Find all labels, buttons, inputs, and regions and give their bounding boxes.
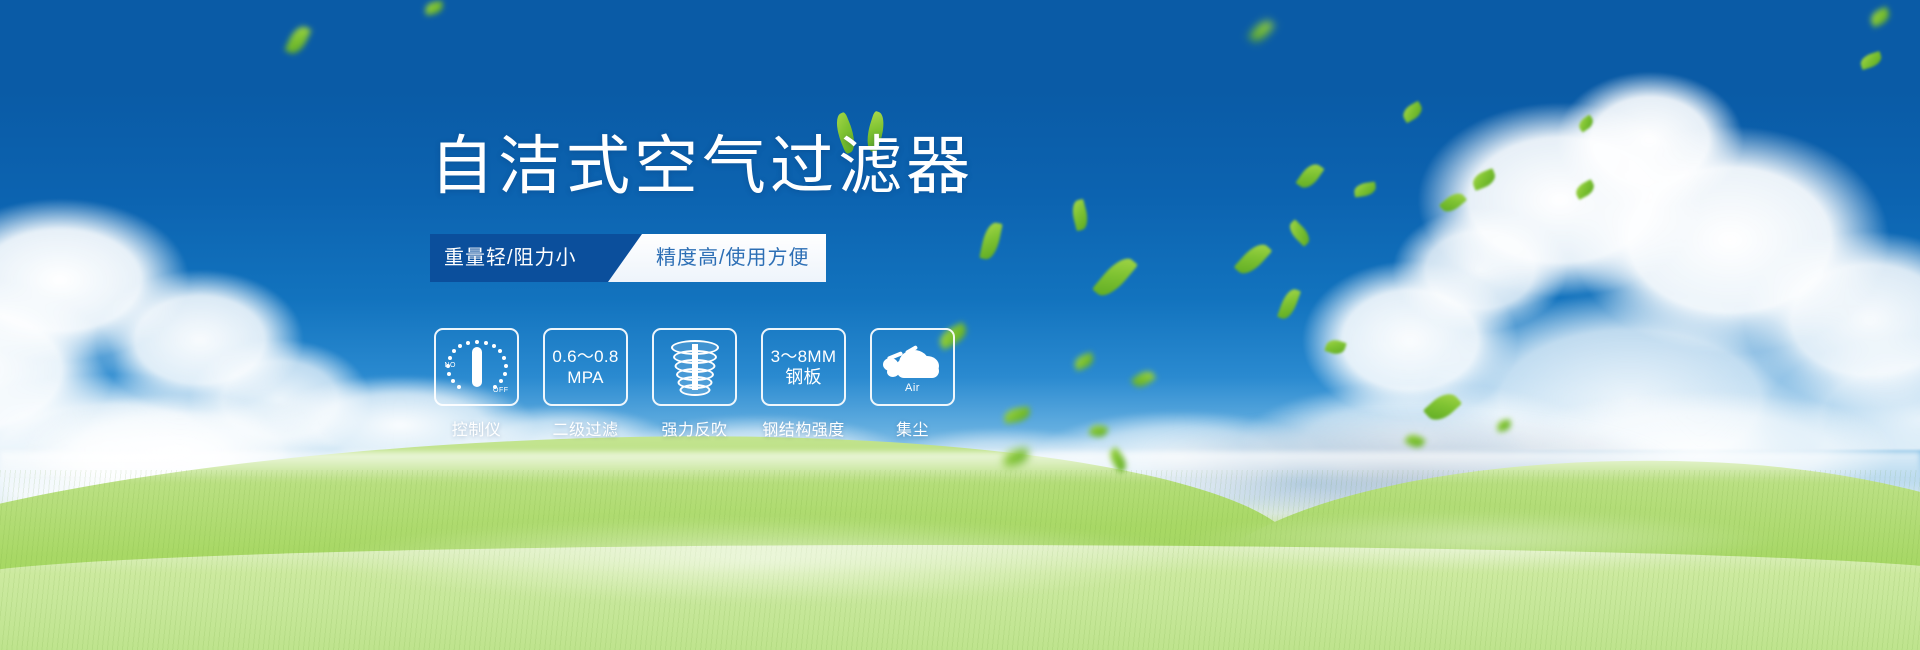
- filter-cartridge-icon: [669, 338, 721, 396]
- feature-icon-box: 0.6～0.8 MPA: [543, 328, 628, 406]
- page-title: 自洁式空气过滤器: [430, 134, 974, 198]
- subtitle-tag-bar: 重量轻/阻力小 精度高/使用方便: [430, 234, 826, 282]
- pressure-value-line1: 0.6～0.8: [552, 346, 618, 367]
- gauge-needle: [472, 347, 482, 387]
- feature-icon-box: 3～8MM 钢板: [761, 328, 846, 406]
- subtitle-tag-right-label: 精度高/使用方便: [656, 234, 810, 282]
- feature-icon-box: NO OFF: [434, 328, 519, 406]
- subtitle-tag-left-label: 重量轻/阻力小: [444, 234, 577, 282]
- gauge-on-label: NO: [445, 362, 457, 369]
- feature-label: 强力反吹: [661, 416, 727, 440]
- feature-label: 集尘: [896, 416, 929, 440]
- gauge-switch-icon: NO OFF: [446, 338, 508, 396]
- feature-label: 二级过滤: [552, 416, 618, 440]
- gauge-off-label: OFF: [493, 387, 509, 394]
- air-cloud-icon: Air: [881, 342, 945, 392]
- product-hero-banner: 自洁式空气过滤器 重量轻/阻力小 精度高/使用方便: [0, 0, 1920, 650]
- feature-icon-box: Air: [870, 328, 955, 406]
- feature-item-dust-collection: Air 集尘: [870, 328, 955, 440]
- feature-item-controller: NO OFF 控制仪: [434, 328, 519, 440]
- pressure-value-line2: MPA: [567, 367, 603, 388]
- feature-label: 控制仪: [452, 416, 502, 440]
- steel-value-line2: 钢板: [785, 367, 822, 388]
- steel-value-line1: 3～8MM: [771, 346, 837, 367]
- feature-icon-row: NO OFF 控制仪 0.6～0.8 MPA 二级过滤: [434, 328, 955, 440]
- feature-item-two-stage-filter: 0.6～0.8 MPA 二级过滤: [543, 328, 628, 440]
- feature-icon-box: [652, 328, 737, 406]
- feature-label: 钢结构强度: [762, 416, 845, 440]
- air-label: Air: [881, 382, 945, 394]
- feature-item-steel-strength: 3～8MM 钢板 钢结构强度: [761, 328, 846, 440]
- feature-item-back-blow: 强力反吹: [652, 328, 737, 440]
